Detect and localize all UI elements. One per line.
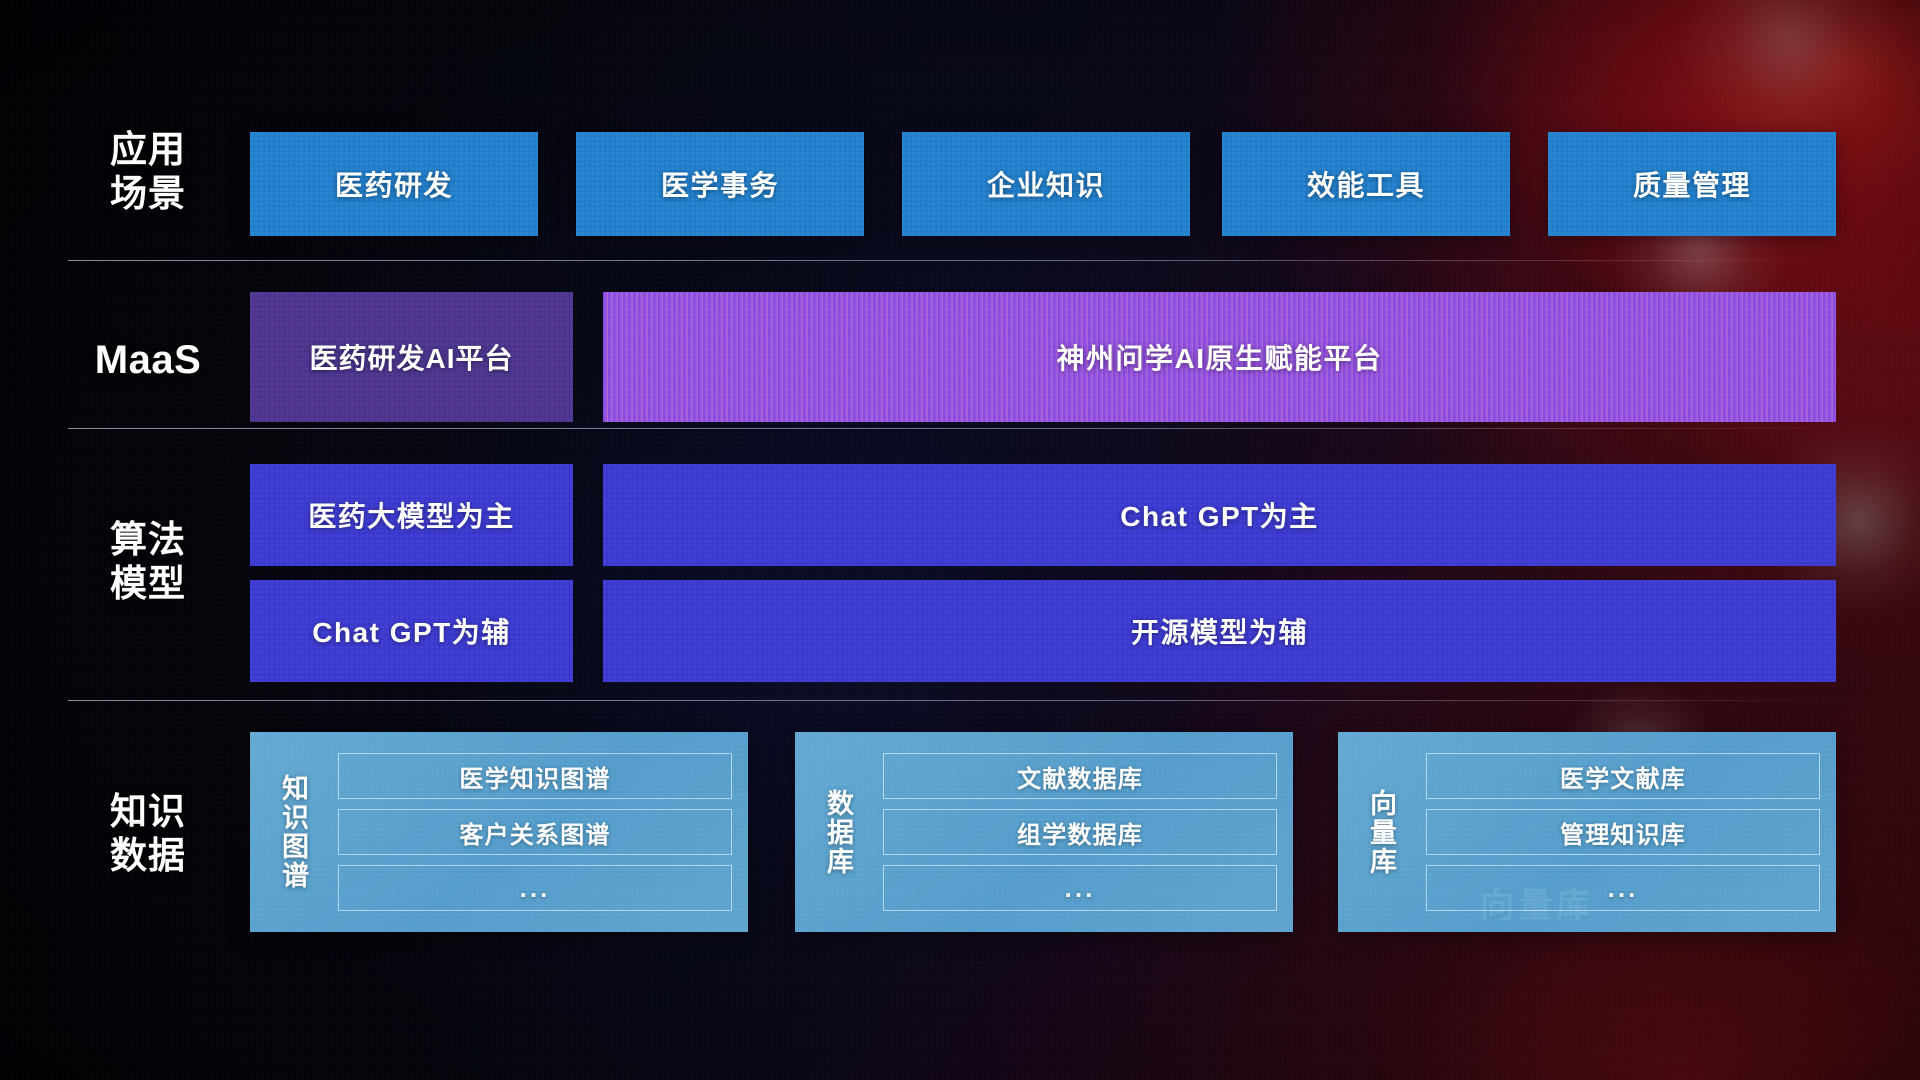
row-label-line: 数据: [68, 834, 228, 878]
algo-card-medicine-large-model-primary[interactable]: 医药大模型为主: [250, 464, 573, 566]
knowledge-item-more[interactable]: ...: [1426, 865, 1820, 911]
app-card-quality-management[interactable]: 质量管理: [1548, 132, 1836, 236]
row-label-line: 场景: [68, 172, 228, 216]
app-card-enterprise-knowledge[interactable]: 企业知识: [902, 132, 1190, 236]
knowledge-item[interactable]: 医学文献库: [1426, 753, 1820, 799]
row-label-line: 模型: [68, 562, 228, 606]
knowledge-group-database: 数据库 文献数据库 组学数据库 ...: [795, 732, 1293, 932]
app-card-efficiency-tools[interactable]: 效能工具: [1222, 132, 1510, 236]
app-card-medical-affairs[interactable]: 医学事务: [576, 132, 864, 236]
divider-after-maas: [68, 428, 1860, 429]
knowledge-item[interactable]: 客户关系图谱: [338, 809, 732, 855]
row-label-line: MaaS: [68, 337, 228, 384]
knowledge-group-title: 数据库: [801, 789, 875, 876]
knowledge-item[interactable]: 医学知识图谱: [338, 753, 732, 799]
knowledge-item[interactable]: 管理知识库: [1426, 809, 1820, 855]
maas-card-shenzhou-wenxue-platform[interactable]: 神州问学AI原生赋能平台: [603, 292, 1836, 422]
row-label-maas: MaaS: [68, 337, 228, 384]
row-label-knowledge-data: 知识 数据: [68, 790, 228, 877]
algo-card-chatgpt-secondary[interactable]: Chat GPT为辅: [250, 580, 573, 682]
knowledge-group-title: 向量库: [1344, 789, 1418, 876]
knowledge-group-items: 文献数据库 组学数据库 ...: [875, 739, 1293, 925]
architecture-diagram: 应用 场景 医药研发 医学事务 企业知识 效能工具 质量管理 MaaS 医药研发…: [0, 0, 1920, 1080]
knowledge-item[interactable]: 组学数据库: [883, 809, 1277, 855]
maas-card-medicine-rd-ai-platform[interactable]: 医药研发AI平台: [250, 292, 573, 422]
knowledge-item[interactable]: 文献数据库: [883, 753, 1277, 799]
algo-card-open-source-secondary[interactable]: 开源模型为辅: [603, 580, 1836, 682]
knowledge-item-more[interactable]: ...: [883, 865, 1277, 911]
knowledge-item-more[interactable]: ...: [338, 865, 732, 911]
knowledge-group-items: 医学知识图谱 客户关系图谱 ...: [330, 739, 748, 925]
row-label-line: 知识: [68, 790, 228, 834]
row-label-application-scenario: 应用 场景: [68, 128, 228, 215]
knowledge-group-knowledge-graph: 知识图谱 医学知识图谱 客户关系图谱 ...: [250, 732, 748, 932]
knowledge-group-title: 知识图谱: [256, 774, 330, 890]
divider-after-application: [68, 260, 1860, 261]
knowledge-group-items: 医学文献库 管理知识库 ...: [1418, 739, 1836, 925]
row-label-line: 算法: [68, 518, 228, 562]
knowledge-group-vector-store: 向量库 医学文献库 管理知识库 ...: [1338, 732, 1836, 932]
app-card-medicine-rd[interactable]: 医药研发: [250, 132, 538, 236]
algo-card-chatgpt-primary[interactable]: Chat GPT为主: [603, 464, 1836, 566]
row-label-algorithm-model: 算法 模型: [68, 518, 228, 605]
divider-after-algorithm: [68, 700, 1860, 701]
row-label-line: 应用: [68, 128, 228, 172]
